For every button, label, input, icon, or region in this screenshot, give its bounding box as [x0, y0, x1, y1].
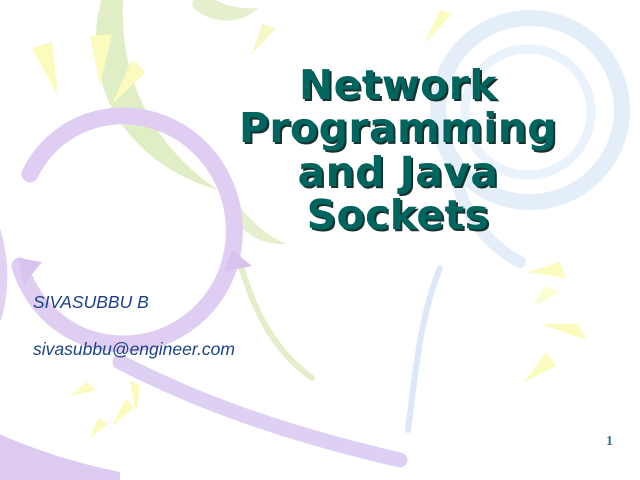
yellow-sparkle-right	[524, 262, 586, 382]
author-email: sivasubbu@engineer.com	[33, 339, 453, 360]
title-line-2: Programming	[196, 107, 600, 150]
slide-title: Network Programming and Java Sockets	[196, 64, 600, 238]
yellow-sparkle-bottom-left	[70, 380, 140, 438]
slide-canvas: Network Programming and Java Sockets SIV…	[0, 0, 640, 480]
title-line-4: Sockets	[196, 194, 600, 237]
lavender-corner-bottom-left	[0, 430, 120, 480]
title-line-3: and Java	[196, 151, 600, 194]
page-number: 1	[606, 434, 613, 450]
slide-byline: SIVASUBBU B sivasubbu@engineer.com	[33, 292, 453, 360]
yellow-sparkle-top-left	[32, 34, 146, 104]
title-line-1: Network	[196, 64, 600, 107]
author-name: SIVASUBBU B	[33, 292, 453, 313]
